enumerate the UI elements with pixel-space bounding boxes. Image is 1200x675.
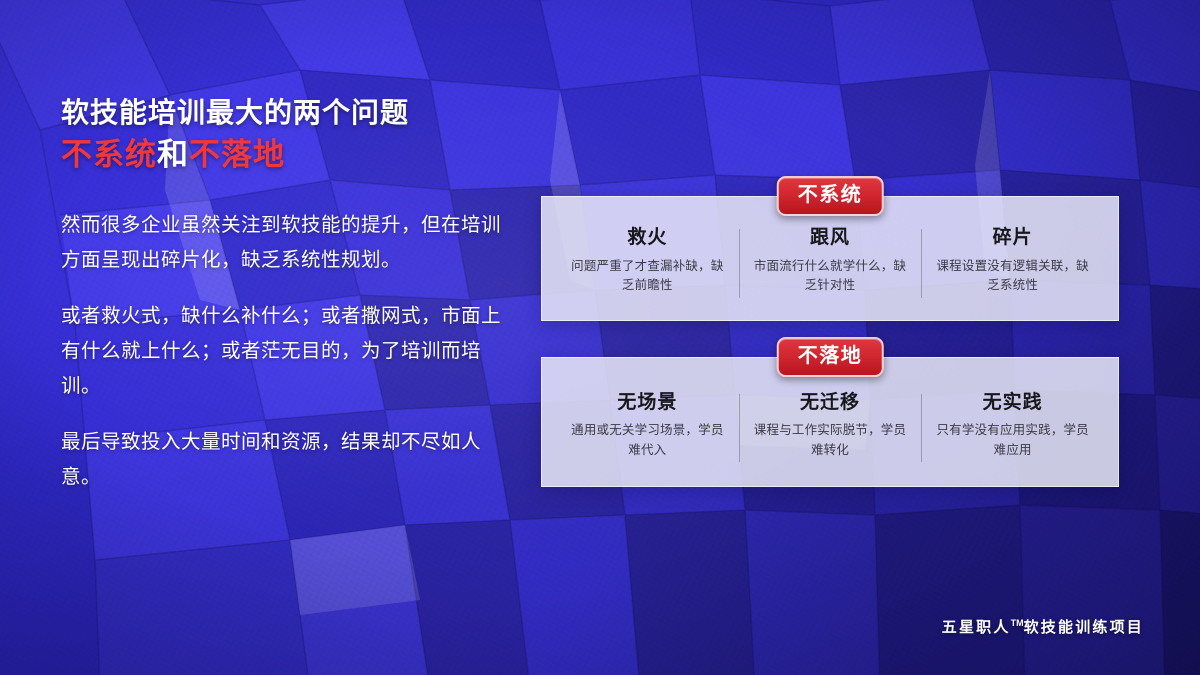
column-description: 课程设置没有逻辑关联，缺乏系统性 <box>931 257 1094 296</box>
paragraph-3: 最后导致投入大量时间和资源，结果却不尽如人意。 <box>61 425 501 494</box>
column-title: 无场景 <box>566 392 729 415</box>
column-description: 通用或无关学习场景，学员难代入 <box>566 421 729 460</box>
paragraph-1: 然而很多企业虽然关注到软技能的提升，但在培训方面呈现出碎片化，缺乏系统性规划。 <box>61 208 501 277</box>
badge-buluodi: 不落地 <box>777 337 884 377</box>
slide-canvas: 软技能培训最大的两个问题 不系统和不落地 然而很多企业虽然关注到软技能的提升，但… <box>0 0 1200 675</box>
column-title: 救火 <box>566 227 729 250</box>
column-title: 碎片 <box>931 227 1094 250</box>
title-conjunction: 和 <box>157 137 189 172</box>
title-highlight-busitong: 不系统 <box>61 137 157 172</box>
page-title-line1: 软技能培训最大的两个问题 <box>61 96 501 130</box>
card-column-wuchangjing: 无场景 通用或无关学习场景，学员难代入 <box>556 392 739 461</box>
problem-block-buluodi: 不落地 无场景 通用或无关学习场景，学员难代入 无迁移 课程与工作实际脱节，学员… <box>541 357 1119 488</box>
page-title-line2: 不系统和不落地 <box>61 136 501 174</box>
footer-brand: 五星职人TM软技能训练项目 <box>942 616 1144 637</box>
badge-wrap-buluodi: 不落地 <box>777 337 884 377</box>
right-cards-column: 不系统 救火 问题严重了才查漏补缺，缺乏前瞻性 跟风 市面流行什么就学什么，缺乏… <box>541 196 1119 487</box>
column-description: 市面流行什么就学什么，缺乏针对性 <box>749 257 912 296</box>
column-title: 跟风 <box>749 227 912 250</box>
column-description: 只有学没有应用实践，学员难应用 <box>931 421 1094 460</box>
badge-wrap-busitong: 不系统 <box>777 176 884 216</box>
card-column-suipian: 碎片 课程设置没有逻辑关联，缺乏系统性 <box>921 227 1104 296</box>
title-highlight-buluodi: 不落地 <box>189 137 285 172</box>
card-column-wuqianyi: 无迁移 课程与工作实际脱节，学员难转化 <box>739 392 922 461</box>
footer-brand-name: 五星职人 <box>942 619 1011 636</box>
column-description: 问题严重了才查漏补缺，缺乏前瞻性 <box>566 257 729 296</box>
footer-product-name: 软技能训练项目 <box>1024 619 1144 636</box>
column-description: 课程与工作实际脱节，学员难转化 <box>749 421 912 460</box>
left-text-column: 软技能培训最大的两个问题 不系统和不落地 然而很多企业虽然关注到软技能的提升，但… <box>61 96 501 495</box>
column-title: 无实践 <box>931 392 1094 415</box>
badge-busitong: 不系统 <box>777 176 884 216</box>
card-column-wushijian: 无实践 只有学没有应用实践，学员难应用 <box>921 392 1104 461</box>
body-paragraphs: 然而很多企业虽然关注到软技能的提升，但在培训方面呈现出碎片化，缺乏系统性规划。 … <box>61 208 501 495</box>
trademark-symbol: TM <box>1011 618 1024 628</box>
column-title: 无迁移 <box>749 392 912 415</box>
paragraph-2: 或者救火式，缺什么补什么；或者撒网式，市面上有什么就上什么；或者茫无目的，为了培… <box>61 299 501 403</box>
problem-block-busitong: 不系统 救火 问题严重了才查漏补缺，缺乏前瞻性 跟风 市面流行什么就学什么，缺乏… <box>541 196 1119 321</box>
card-column-jiuhuo: 救火 问题严重了才查漏补缺，缺乏前瞻性 <box>556 227 739 296</box>
card-column-genfeng: 跟风 市面流行什么就学什么，缺乏针对性 <box>739 227 922 296</box>
